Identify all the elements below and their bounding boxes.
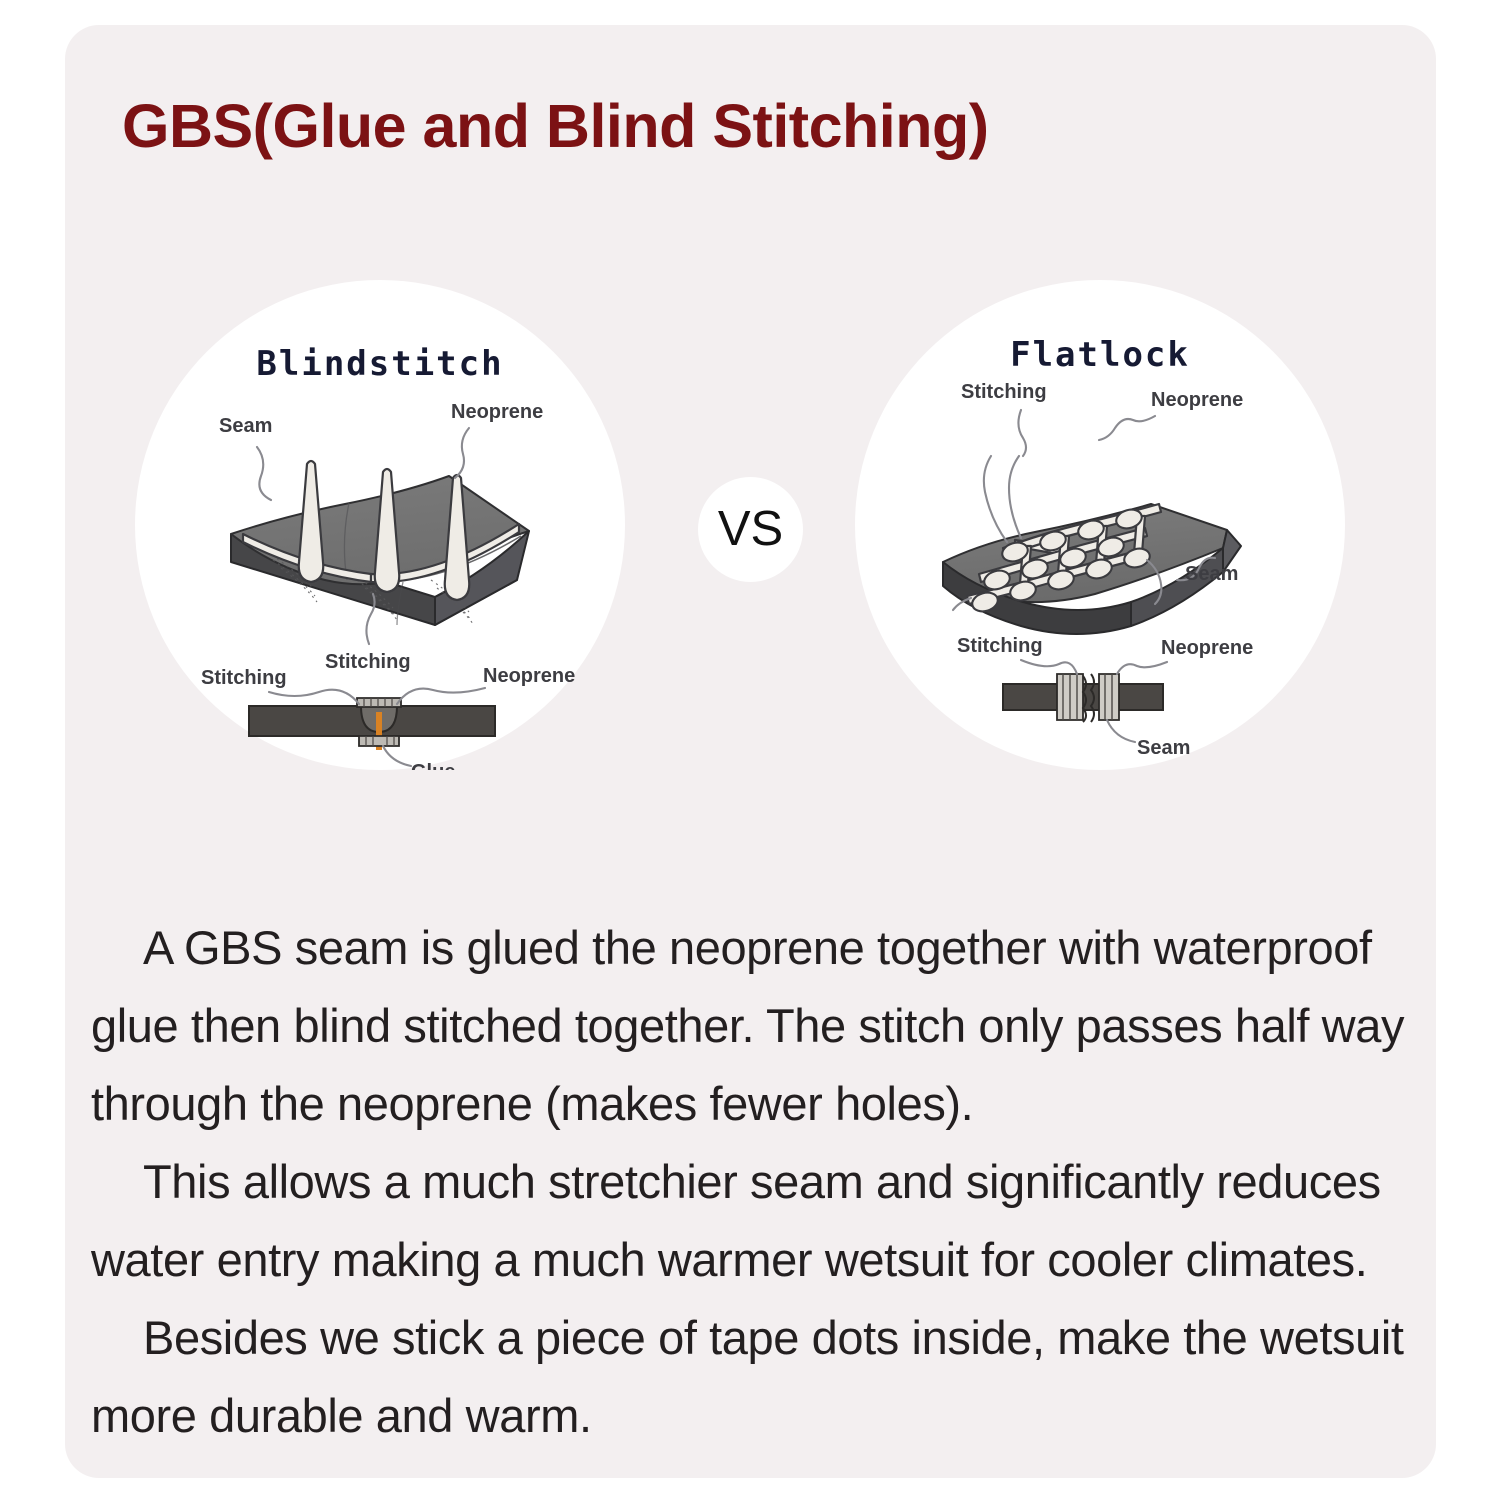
blindstitch-cs-label-neoprene: Neoprene: [483, 665, 575, 687]
blindstitch-label-neoprene: Neoprene: [451, 401, 543, 423]
flatlock-diagram-card: Flatlock: [855, 280, 1345, 770]
body-paragraph-1: A GBS seam is glued the neoprene togethe…: [91, 909, 1411, 1143]
body-copy: A GBS seam is glued the neoprene togethe…: [91, 909, 1411, 1455]
vs-label: VS: [718, 505, 783, 554]
body-paragraph-2: This allows a much stretchier seam and s…: [91, 1143, 1411, 1299]
blindstitch-slab: [231, 461, 529, 625]
flatlock-label-seam: Seam: [1185, 563, 1238, 585]
flatlock-slab: [943, 456, 1241, 634]
blindstitch-label-seam: Seam: [219, 415, 272, 437]
infographic-panel: GBS(Glue and Blind Stitching) Blindstitc…: [65, 25, 1436, 1478]
blindstitch-cs-label-glue: Glue: [411, 761, 455, 770]
flatlock-label-stitching: Stitching: [961, 381, 1047, 403]
flatlock-cross-section: [1003, 674, 1163, 722]
flatlock-cs-label-neoprene: Neoprene: [1161, 637, 1253, 659]
blindstitch-cross-section: [249, 698, 495, 750]
blindstitch-title: Blindstitch: [256, 344, 503, 384]
blindstitch-diagram-card: Blindstitch: [135, 280, 625, 770]
flatlock-cs-label-seam: Seam: [1137, 737, 1190, 759]
blindstitch-label-stitching: Stitching: [325, 651, 411, 673]
flatlock-title: Flatlock: [1010, 335, 1190, 375]
vs-badge: VS: [698, 477, 803, 582]
flatlock-cs-label-stitching: Stitching: [957, 635, 1043, 657]
page-title: GBS(Glue and Blind Stitching): [122, 91, 989, 161]
flatlock-label-neoprene: Neoprene: [1151, 389, 1243, 411]
body-paragraph-3: Besides we stick a piece of tape dots in…: [91, 1299, 1411, 1455]
blindstitch-cs-label-stitching: Stitching: [201, 667, 287, 689]
